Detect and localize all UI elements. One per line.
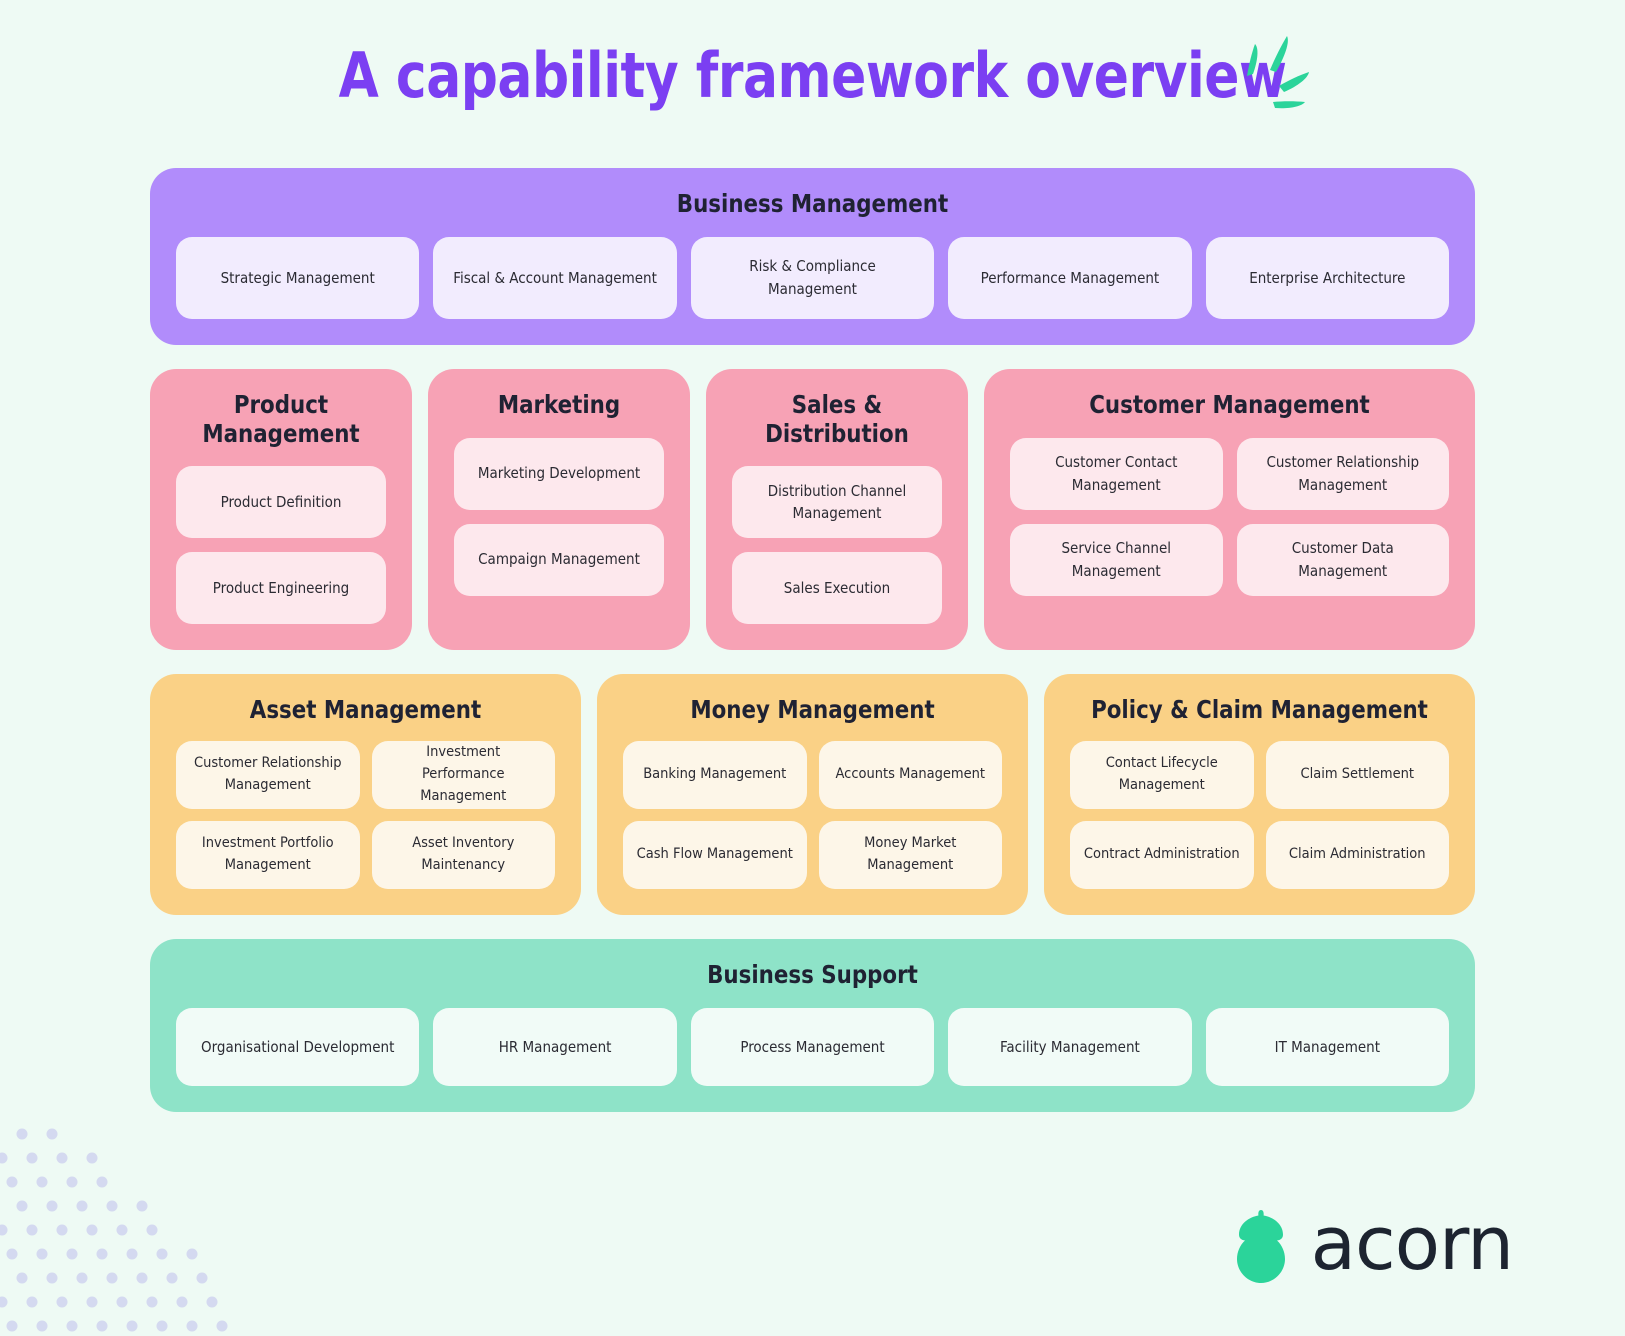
card-investment-portfolio-management[interactable]: Investment Portfolio Management [176,821,360,889]
panel-business-support: Business Support Organisational Developm… [150,939,1475,1112]
card-contact-lifecycle-management[interactable]: Contact Lifecycle Management [1070,741,1254,809]
card-product-definition[interactable]: Product Definition [176,466,386,538]
panel-title-marketing: Marketing [459,391,659,420]
panel-policy-claim-management: Policy & Claim Management Contact Lifecy… [1044,674,1475,915]
card-cash-flow-management[interactable]: Cash Flow Management [623,821,807,889]
card-organisational-development[interactable]: Organisational Development [176,1008,419,1086]
card-customer-relationship-management[interactable]: Customer Relationship Management [1237,438,1450,510]
card-customer-relationship-management-asset[interactable]: Customer Relationship Management [176,741,360,809]
card-investment-performance-management[interactable]: Investment Performance Management [372,741,556,809]
card-process-management[interactable]: Process Management [691,1008,934,1086]
card-risk-compliance-management[interactable]: Risk & Compliance Management [691,237,934,319]
card-asset-inventory-maintenancy[interactable]: Asset Inventory Maintenancy [372,821,556,889]
panel-marketing: Marketing Marketing Development Campaign… [428,369,690,651]
card-product-engineering[interactable]: Product Engineering [176,552,386,624]
card-banking-management[interactable]: Banking Management [623,741,807,809]
card-service-channel-management[interactable]: Service Channel Management [1010,524,1223,596]
card-it-management[interactable]: IT Management [1206,1008,1449,1086]
header: A capability framework overview [0,0,1625,150]
panel-title-customer-management: Customer Management [1021,391,1438,420]
card-claim-administration[interactable]: Claim Administration [1266,821,1450,889]
panel-title-money-management: Money Management [632,696,992,725]
acorn-logo-icon [1225,1204,1297,1284]
panel-title-sales-distribution: Sales & Distribution [737,391,937,449]
panel-business-management: Business Management Strategic Management… [150,168,1475,345]
card-enterprise-architecture[interactable]: Enterprise Architecture [1206,237,1449,319]
row-business-management: Business Management Strategic Management… [150,168,1475,345]
card-contract-administration[interactable]: Contract Administration [1070,821,1254,889]
card-performance-management[interactable]: Performance Management [948,237,1191,319]
row-core-operations: Product Management Product Definition Pr… [150,369,1475,651]
card-campaign-management[interactable]: Campaign Management [454,524,664,596]
panel-title-asset-management: Asset Management [185,696,545,725]
card-accounts-management[interactable]: Accounts Management [819,741,1003,809]
card-list-policy-claim-management: Contact Lifecycle Management Claim Settl… [1070,741,1449,889]
card-list-business-support: Organisational Development HR Management… [176,1008,1449,1086]
panel-title-policy-claim-management: Policy & Claim Management [1079,696,1439,725]
panel-product-management: Product Management Product Definition Pr… [150,369,412,651]
panel-sales-distribution: Sales & Distribution Distribution Channe… [706,369,968,651]
card-marketing-development[interactable]: Marketing Development [454,438,664,510]
card-list-marketing: Marketing Development Campaign Managemen… [454,438,664,596]
card-claim-settlement[interactable]: Claim Settlement [1266,741,1450,809]
sparkle-icon [1213,22,1313,122]
panel-asset-management: Asset Management Customer Relationship M… [150,674,581,915]
card-customer-data-management[interactable]: Customer Data Management [1237,524,1450,596]
panel-money-management: Money Management Banking Management Acco… [597,674,1028,915]
panel-customer-management: Customer Management Customer Contact Man… [984,369,1475,651]
card-list-customer-management: Customer Contact Management Customer Rel… [1010,438,1449,596]
card-strategic-management[interactable]: Strategic Management [176,237,419,319]
card-list-asset-management: Customer Relationship Management Investm… [176,741,555,889]
card-list-money-management: Banking Management Accounts Management C… [623,741,1002,889]
card-list-sales-distribution: Distribution Channel Management Sales Ex… [732,466,942,624]
brand-logo: acorn [1225,1204,1513,1284]
decorative-dot-pattern [0,1116,230,1336]
brand-name: acorn [1311,1207,1513,1281]
page-title: A capability framework overview [339,39,1287,112]
card-sales-execution[interactable]: Sales Execution [732,552,942,624]
card-list-business-management: Strategic Management Fiscal & Account Ma… [176,237,1449,319]
row-business-support: Business Support Organisational Developm… [150,939,1475,1112]
card-fiscal-account-management[interactable]: Fiscal & Account Management [433,237,676,319]
card-list-product-management: Product Definition Product Engineering [176,466,386,624]
card-distribution-channel-management[interactable]: Distribution Channel Management [732,466,942,538]
card-facility-management[interactable]: Facility Management [948,1008,1191,1086]
card-customer-contact-management[interactable]: Customer Contact Management [1010,438,1223,510]
panel-title-business-management: Business Management [208,190,1417,219]
row-finance-operations: Asset Management Customer Relationship M… [150,674,1475,915]
card-hr-management[interactable]: HR Management [433,1008,676,1086]
card-money-market-management[interactable]: Money Market Management [819,821,1003,889]
panel-title-product-management: Product Management [181,391,381,449]
panel-title-business-support: Business Support [208,961,1417,990]
